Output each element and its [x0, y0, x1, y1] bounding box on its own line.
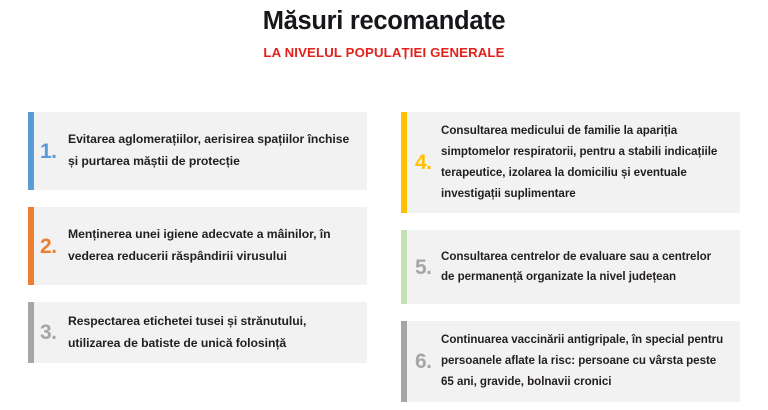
measure-number-6: 6.	[401, 351, 441, 372]
measure-number-2: 2.	[28, 236, 68, 257]
measure-card-2: 2. Menținerea unei igiene adecvate a mâi…	[28, 207, 367, 285]
measure-card-5: 5. Consultarea centrelor de evaluare sau…	[401, 230, 740, 304]
measure-text-1: Evitarea aglomerațiilor, aerisirea spați…	[68, 129, 355, 172]
measures-column-right: 4. Consultarea medicului de familie la a…	[401, 112, 740, 402]
accent-bar-4	[401, 112, 407, 213]
accent-bar-5	[401, 230, 407, 304]
accent-bar-3	[28, 302, 34, 363]
measure-card-6: 6. Continuarea vaccinării antigripale, î…	[401, 321, 740, 402]
measure-card-4: 4. Consultarea medicului de familie la a…	[401, 112, 740, 213]
measure-card-3: 3. Respectarea etichetei tusei și strănu…	[28, 302, 367, 363]
measure-text-6: Continuarea vaccinării antigripale, în s…	[441, 330, 728, 393]
accent-bar-1	[28, 112, 34, 190]
measure-card-1: 1. Evitarea aglomerațiilor, aerisirea sp…	[28, 112, 367, 190]
measures-column-left: 1. Evitarea aglomerațiilor, aerisirea sp…	[28, 112, 367, 402]
measures-grid: 1. Evitarea aglomerațiilor, aerisirea sp…	[0, 112, 768, 402]
header: Măsuri recomandate LA NIVELUL POPULAȚIEI…	[0, 0, 768, 60]
measure-text-3: Respectarea etichetei tusei și strănutul…	[68, 311, 355, 354]
measure-number-4: 4.	[401, 152, 441, 173]
measure-number-3: 3.	[28, 322, 68, 343]
accent-bar-6	[401, 321, 407, 402]
page-title: Măsuri recomandate	[0, 7, 768, 36]
infographic-page: Măsuri recomandate LA NIVELUL POPULAȚIEI…	[0, 0, 768, 410]
measure-number-1: 1.	[28, 141, 68, 162]
measure-text-5: Consultarea centrelor de evaluare sau a …	[441, 247, 728, 289]
measure-number-5: 5.	[401, 257, 441, 278]
measure-text-4: Consultarea medicului de familie la apar…	[441, 121, 728, 204]
measure-text-2: Menținerea unei igiene adecvate a mâinil…	[68, 224, 355, 267]
accent-bar-2	[28, 207, 34, 285]
page-subtitle: LA NIVELUL POPULAȚIEI GENERALE	[0, 46, 768, 61]
